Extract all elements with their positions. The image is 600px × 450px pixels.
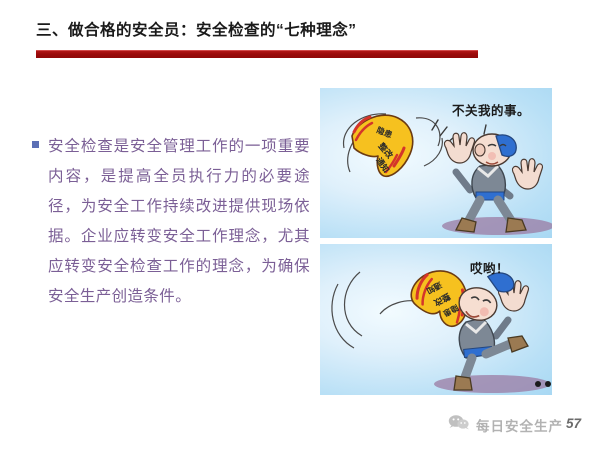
footer-watermark: 每日安全生产 <box>448 414 563 435</box>
page-number: 57 <box>566 416 581 431</box>
bullet-square-icon <box>32 141 39 148</box>
illustration-panel-top: 隐患 整改 通知 <box>320 88 552 238</box>
page-title: 三、做合格的安全员：安全检查的“七种理念” <box>36 20 496 42</box>
title-block: 三、做合格的安全员：安全检查的“七种理念” <box>36 20 496 42</box>
panel-bottom-caption: 哎哟！ <box>470 258 509 277</box>
cartoon-notice-hits-man: 隐患 整改 通知 <box>320 244 552 395</box>
illustration-panel-bottom: 隐患 整改 通知 <box>320 244 552 395</box>
panel-top-caption: 不关我的事。 <box>452 100 530 119</box>
title-underline-rule <box>36 50 478 58</box>
body-paragraph-text: 安全检查是安全管理工作的一项重要内容，是提高全员执行力的必要途径，为安全工作持续… <box>48 132 310 312</box>
wechat-icon <box>448 414 470 435</box>
presentation-slide: 三、做合格的安全员：安全检查的“七种理念” 安全检查是安全管理工作的一项重要内容… <box>0 0 600 450</box>
body-paragraph-block: 安全检查是安全管理工作的一项重要内容，是提高全员执行力的必要途径，为安全工作持续… <box>32 132 322 312</box>
footer-brand-text: 每日安全生产 <box>476 415 563 435</box>
